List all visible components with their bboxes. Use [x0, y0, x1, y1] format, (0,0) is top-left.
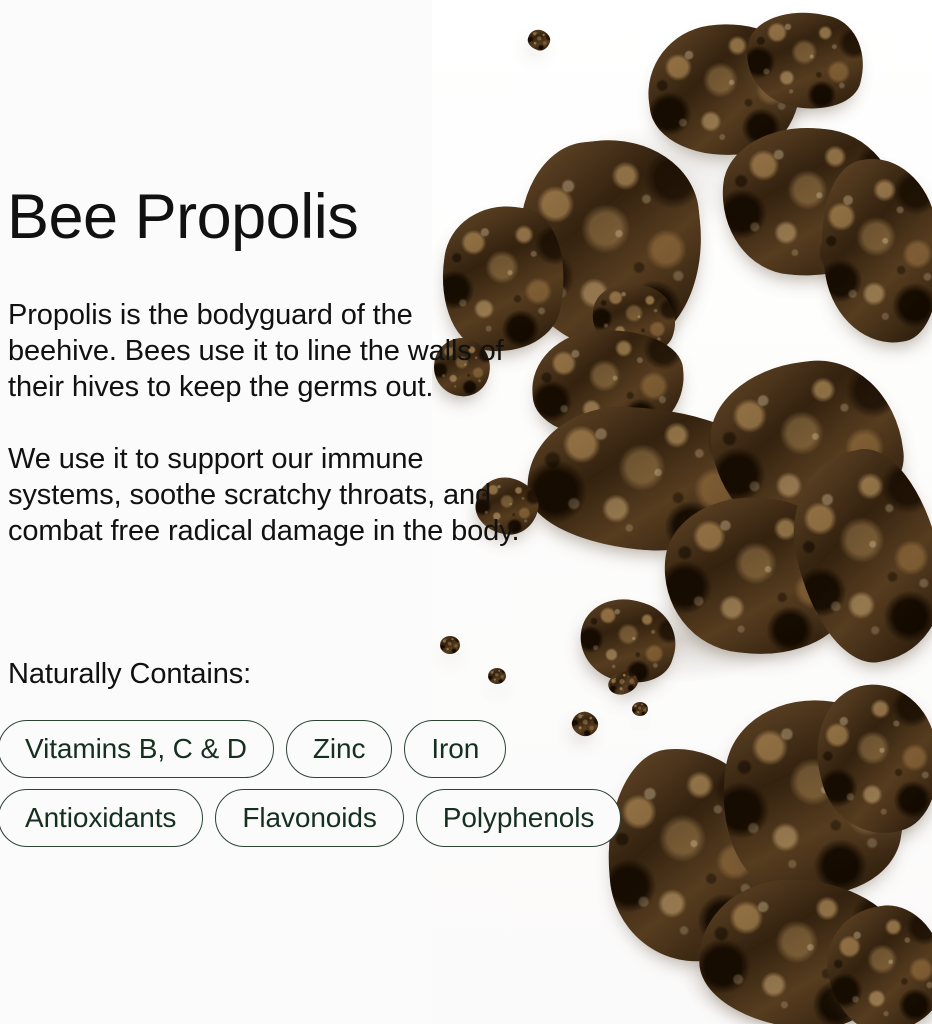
description-paragraph-1: Propolis is the bodyguard of the beehive…: [8, 297, 528, 405]
ingredient-pill[interactable]: Antioxidants: [0, 789, 203, 847]
ingredient-pill[interactable]: Iron: [404, 720, 506, 778]
product-infographic: Bee Propolis Propolis is the bodyguard o…: [0, 0, 932, 1024]
page-title: Bee Propolis: [7, 186, 358, 249]
ingredient-pill-row: AntioxidantsFlavonoidsPolyphenols: [0, 789, 700, 847]
description-paragraph-2: We use it to support our immune systems,…: [8, 441, 528, 549]
ingredient-pill[interactable]: Polyphenols: [416, 789, 621, 847]
ingredient-pill[interactable]: Flavonoids: [215, 789, 403, 847]
naturally-contains-label: Naturally Contains:: [8, 656, 251, 692]
propolis-chunk: [632, 702, 648, 716]
content-column: Bee Propolis Propolis is the bodyguard o…: [0, 0, 540, 1024]
ingredient-pill[interactable]: Zinc: [286, 720, 393, 778]
ingredient-pill[interactable]: Vitamins B, C & D: [0, 720, 274, 778]
ingredient-pill-list: Vitamins B, C & DZincIronAntioxidantsFla…: [0, 720, 700, 858]
ingredient-pill-row: Vitamins B, C & DZincIron: [0, 720, 700, 778]
